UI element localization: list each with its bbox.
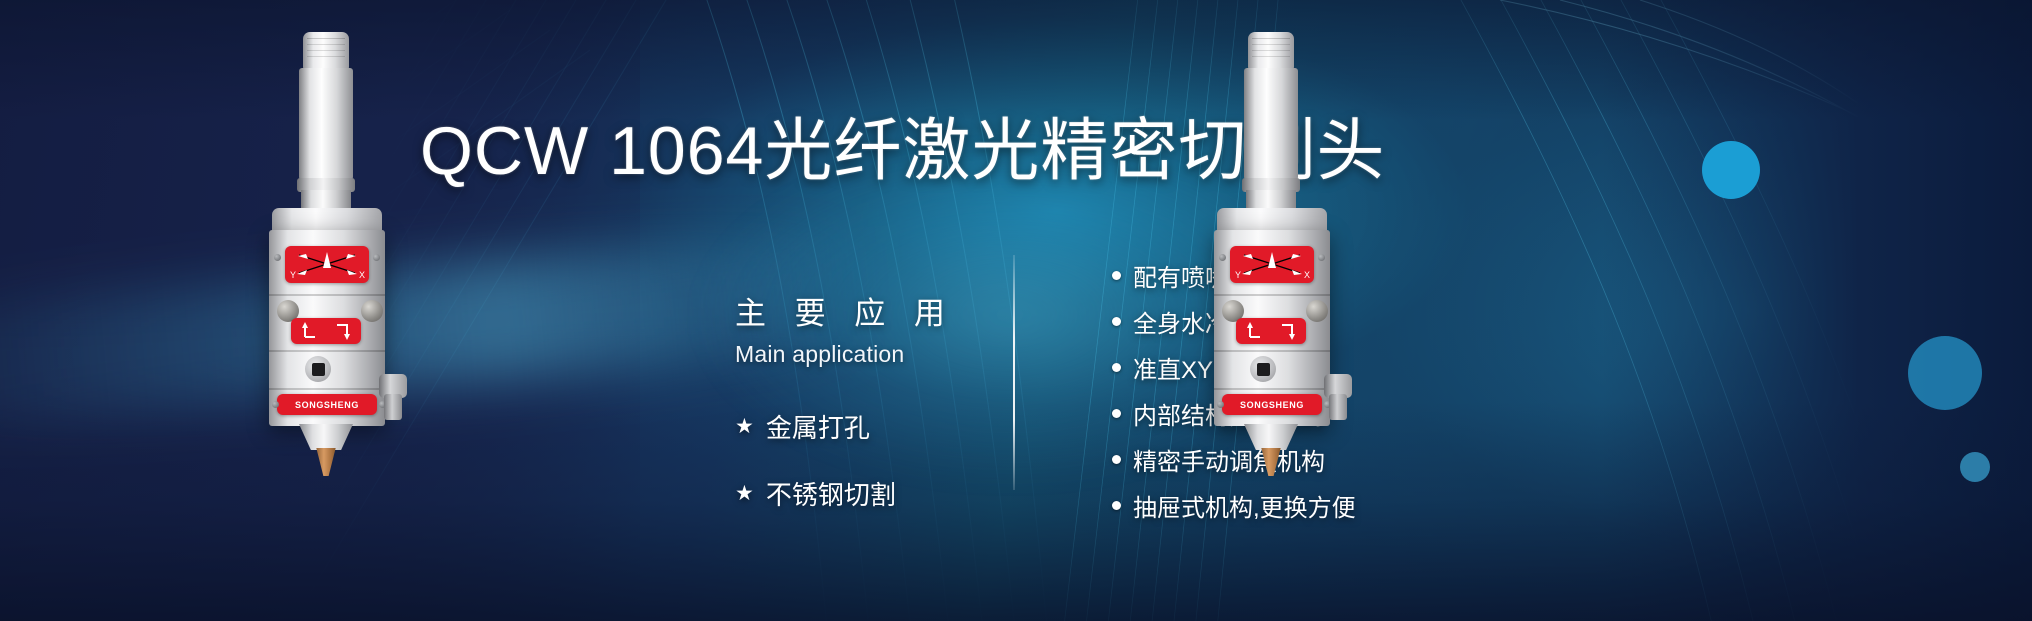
direction-arrows-icon xyxy=(1236,318,1306,344)
direction-label xyxy=(291,318,361,344)
product-seam xyxy=(1214,294,1330,296)
product-seam xyxy=(1214,350,1330,352)
bullet-dot-icon xyxy=(1112,317,1121,326)
decorative-circle-medium xyxy=(1908,336,1982,410)
air-fitting xyxy=(379,374,407,420)
list-item-label: 精密手动调焦机构 xyxy=(1133,442,1325,477)
brand-label: SONGSHENG xyxy=(277,394,377,415)
lens-window xyxy=(305,356,331,382)
direction-label xyxy=(1236,318,1306,344)
star-icon: ★ xyxy=(735,416,754,437)
list-item: 精密手动调焦机构 xyxy=(1112,442,1492,477)
page-title: QCW 1064光纤激光精密切割头 xyxy=(420,95,1385,194)
product-seam xyxy=(1214,388,1330,390)
xy-arrows-icon: Y X xyxy=(1230,246,1314,283)
air-fitting xyxy=(1324,374,1352,420)
list-item: ★ 金属打孔 xyxy=(735,408,1005,445)
screw-icon xyxy=(272,401,279,408)
bullet-dot-icon xyxy=(1112,501,1121,510)
main-application-block: 主 要 应 用 Main application ★ 金属打孔 ★ 不锈钢切割 xyxy=(735,296,1005,542)
screw-icon xyxy=(1217,401,1224,408)
brand-label: SONGSHENG xyxy=(1222,394,1322,415)
list-item: 抽屉式机构,更换方便 xyxy=(1112,488,1492,523)
star-icon: ★ xyxy=(735,483,754,504)
screw-icon xyxy=(1219,254,1226,261)
product-upper-tube xyxy=(1244,68,1298,180)
decorative-circle-large xyxy=(1702,141,1760,199)
list-item-label: 抽屉式机构,更换方便 xyxy=(1133,488,1356,523)
bullet-dot-icon xyxy=(1112,363,1121,372)
xy-arrows-icon: Y X xyxy=(285,246,369,283)
product-seam xyxy=(269,388,385,390)
bullet-dot-icon xyxy=(1112,455,1121,464)
product-seam xyxy=(269,350,385,352)
lens-window xyxy=(1250,356,1276,382)
direction-arrows-icon xyxy=(291,318,361,344)
svg-text:Y: Y xyxy=(290,270,296,280)
xy-alignment-label: Y X xyxy=(285,246,369,283)
application-list: ★ 金属打孔 ★ 不锈钢切割 xyxy=(735,408,1005,512)
adjustment-knob xyxy=(1306,300,1328,322)
product-top-cap xyxy=(303,32,349,70)
product-banner: QCW 1064光纤激光精密切割头 主 要 应 用 Main applicati… xyxy=(0,0,2032,621)
product-upper-tube xyxy=(299,68,353,180)
vertical-divider xyxy=(1013,255,1015,490)
application-heading-cn: 主 要 应 用 xyxy=(735,296,1005,332)
svg-text:X: X xyxy=(1304,270,1310,280)
screw-icon xyxy=(274,254,281,261)
bullet-dot-icon xyxy=(1112,271,1121,280)
application-heading-en: Main application xyxy=(735,341,1005,368)
xy-alignment-label: Y X xyxy=(1230,246,1314,283)
list-item-label: 金属打孔 xyxy=(766,408,870,445)
screw-icon xyxy=(373,254,380,261)
list-item: ★ 不锈钢切割 xyxy=(735,475,1005,512)
product-seam xyxy=(269,294,385,296)
svg-text:Y: Y xyxy=(1235,270,1241,280)
svg-text:X: X xyxy=(359,270,365,280)
screw-icon xyxy=(1318,254,1325,261)
bullet-dot-icon xyxy=(1112,409,1121,418)
decorative-circle-small xyxy=(1960,452,1990,482)
adjustment-knob xyxy=(361,300,383,322)
product-top-cap xyxy=(1248,32,1294,70)
list-item-label: 不锈钢切割 xyxy=(766,475,896,512)
